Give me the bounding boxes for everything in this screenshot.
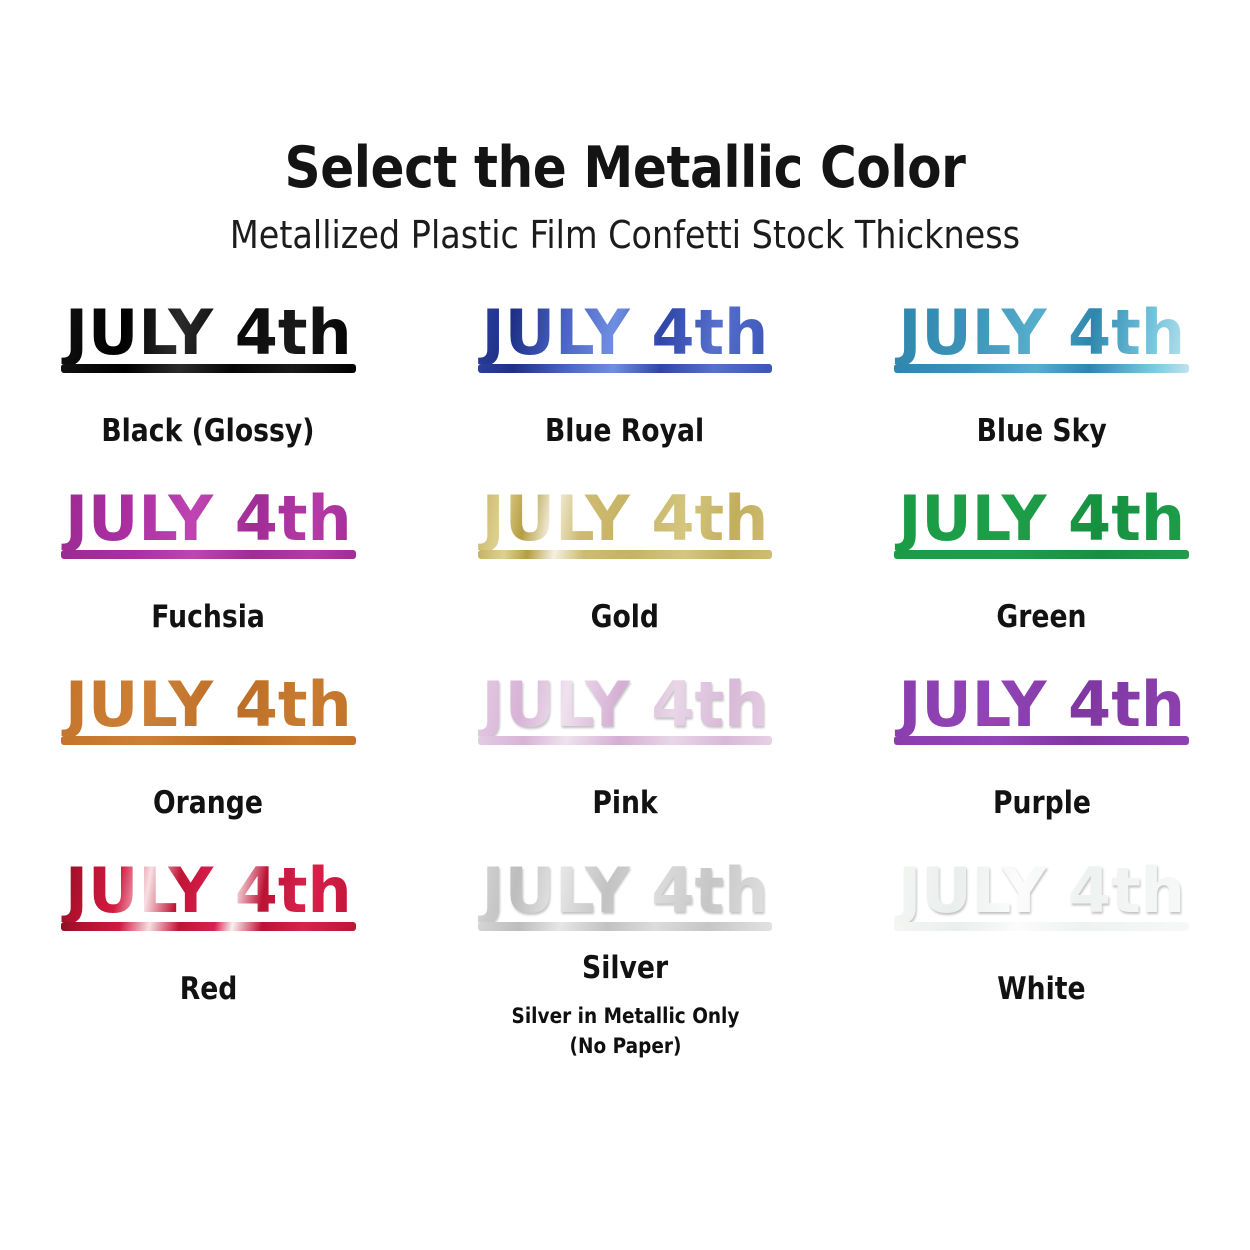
artwork-baseline-bar (478, 922, 773, 931)
color-swatch-fuchsia[interactable]: JULY 4thFuchsia (0, 488, 417, 674)
july4th-artwork-fuchsia[interactable]: JULY 4th (61, 488, 356, 559)
color-label-pink: Pink (592, 788, 657, 819)
artwork-baseline-bar (61, 364, 356, 373)
color-note-silver: Silver in Metallic Only(No Paper) (496, 1001, 755, 1062)
color-swatch-orange[interactable]: JULY 4thOrange (0, 674, 417, 860)
july4th-artwork-wrap: JULY 4th (0, 488, 417, 580)
artwork-baseline-bar (478, 550, 773, 559)
july4th-text: JULY 4th (478, 302, 773, 364)
metallic-color-selector-page: { "header": { "title": "Select the Metal… (0, 0, 1250, 1250)
july4th-artwork-green[interactable]: JULY 4th (894, 488, 1189, 559)
july4th-artwork-pink[interactable]: JULY 4th (478, 674, 773, 745)
artwork-baseline-bar (61, 736, 356, 745)
july4th-text: JULY 4th (61, 860, 356, 922)
color-swatch-silver[interactable]: JULY 4thSilverSilver in Metallic Only(No… (417, 860, 834, 1046)
july4th-artwork-red[interactable]: JULY 4th (61, 860, 356, 931)
july4th-artwork-wrap: JULY 4th (417, 302, 834, 394)
july4th-artwork-wrap: JULY 4th (417, 860, 834, 931)
page-header: Select the Metallic Color Metallized Pla… (0, 0, 1250, 254)
note-line: (No Paper) (511, 1031, 739, 1061)
color-swatch-green[interactable]: JULY 4thGreen (833, 488, 1250, 674)
july4th-text: JULY 4th (894, 674, 1189, 736)
july4th-artwork-wrap: JULY 4th (0, 860, 417, 952)
color-label-red: Red (179, 974, 237, 1005)
july4th-artwork-wrap: JULY 4th (833, 488, 1250, 580)
color-swatch-pink[interactable]: JULY 4thPink (417, 674, 834, 860)
color-label-purple: Purple (993, 788, 1091, 819)
color-label-blue-royal: Blue Royal (545, 416, 704, 447)
color-label-fuchsia: Fuchsia (152, 602, 266, 633)
color-swatch-purple[interactable]: JULY 4thPurple (833, 674, 1250, 860)
color-swatch-red[interactable]: JULY 4thRed (0, 860, 417, 1046)
july4th-artwork-wrap: JULY 4th (833, 302, 1250, 394)
color-swatch-grid: JULY 4thBlack (Glossy)JULY 4thBlue Royal… (0, 302, 1250, 1046)
july4th-artwork-wrap: JULY 4th (0, 674, 417, 766)
july4th-text: JULY 4th (894, 302, 1189, 364)
july4th-text: JULY 4th (478, 488, 773, 550)
july4th-text: JULY 4th (61, 488, 356, 550)
july4th-text: JULY 4th (478, 674, 773, 736)
color-swatch-black-glossy[interactable]: JULY 4thBlack (Glossy) (0, 302, 417, 488)
color-label-white: White (997, 974, 1085, 1005)
july4th-artwork-wrap: JULY 4th (833, 674, 1250, 766)
artwork-baseline-bar (894, 550, 1189, 559)
july4th-artwork-silver[interactable]: JULY 4th (478, 860, 773, 931)
color-label-silver: Silver (582, 953, 668, 984)
artwork-baseline-bar (61, 550, 356, 559)
july4th-artwork-gold[interactable]: JULY 4th (478, 488, 773, 559)
page-subtitle: Metallized Plastic Film Confetti Stock T… (75, 216, 1175, 254)
artwork-baseline-bar (894, 922, 1189, 931)
july4th-artwork-wrap: JULY 4th (417, 488, 834, 580)
color-swatch-white[interactable]: JULY 4thWhite (833, 860, 1250, 1046)
page-title: Select the Metallic Color (75, 140, 1175, 197)
july4th-artwork-purple[interactable]: JULY 4th (894, 674, 1189, 745)
july4th-artwork-blue-royal[interactable]: JULY 4th (478, 302, 773, 373)
color-label-blue-sky: Blue Sky (977, 416, 1107, 447)
july4th-text: JULY 4th (61, 302, 356, 364)
color-label-green: Green (997, 602, 1087, 633)
july4th-text: JULY 4th (61, 674, 356, 736)
july4th-artwork-wrap: JULY 4th (417, 674, 834, 766)
color-swatch-blue-sky[interactable]: JULY 4thBlue Sky (833, 302, 1250, 488)
color-label-gold: Gold (591, 602, 659, 633)
artwork-baseline-bar (894, 736, 1189, 745)
july4th-artwork-wrap: JULY 4th (833, 860, 1250, 952)
note-line: Silver in Metallic Only (511, 1001, 739, 1031)
artwork-baseline-bar (61, 922, 356, 931)
july4th-artwork-black-glossy[interactable]: JULY 4th (61, 302, 356, 373)
july4th-artwork-white[interactable]: JULY 4th (894, 860, 1189, 931)
july4th-text: JULY 4th (894, 488, 1189, 550)
color-label-black-glossy: Black (Glossy) (102, 416, 315, 447)
july4th-artwork-blue-sky[interactable]: JULY 4th (894, 302, 1189, 373)
july4th-artwork-orange[interactable]: JULY 4th (61, 674, 356, 745)
july4th-text: JULY 4th (894, 860, 1189, 922)
artwork-baseline-bar (478, 736, 773, 745)
july4th-artwork-wrap: JULY 4th (0, 302, 417, 394)
artwork-baseline-bar (478, 364, 773, 373)
color-label-orange: Orange (153, 788, 263, 819)
color-swatch-gold[interactable]: JULY 4thGold (417, 488, 834, 674)
july4th-text: JULY 4th (478, 860, 773, 922)
artwork-baseline-bar (894, 364, 1189, 373)
color-swatch-blue-royal[interactable]: JULY 4thBlue Royal (417, 302, 834, 488)
